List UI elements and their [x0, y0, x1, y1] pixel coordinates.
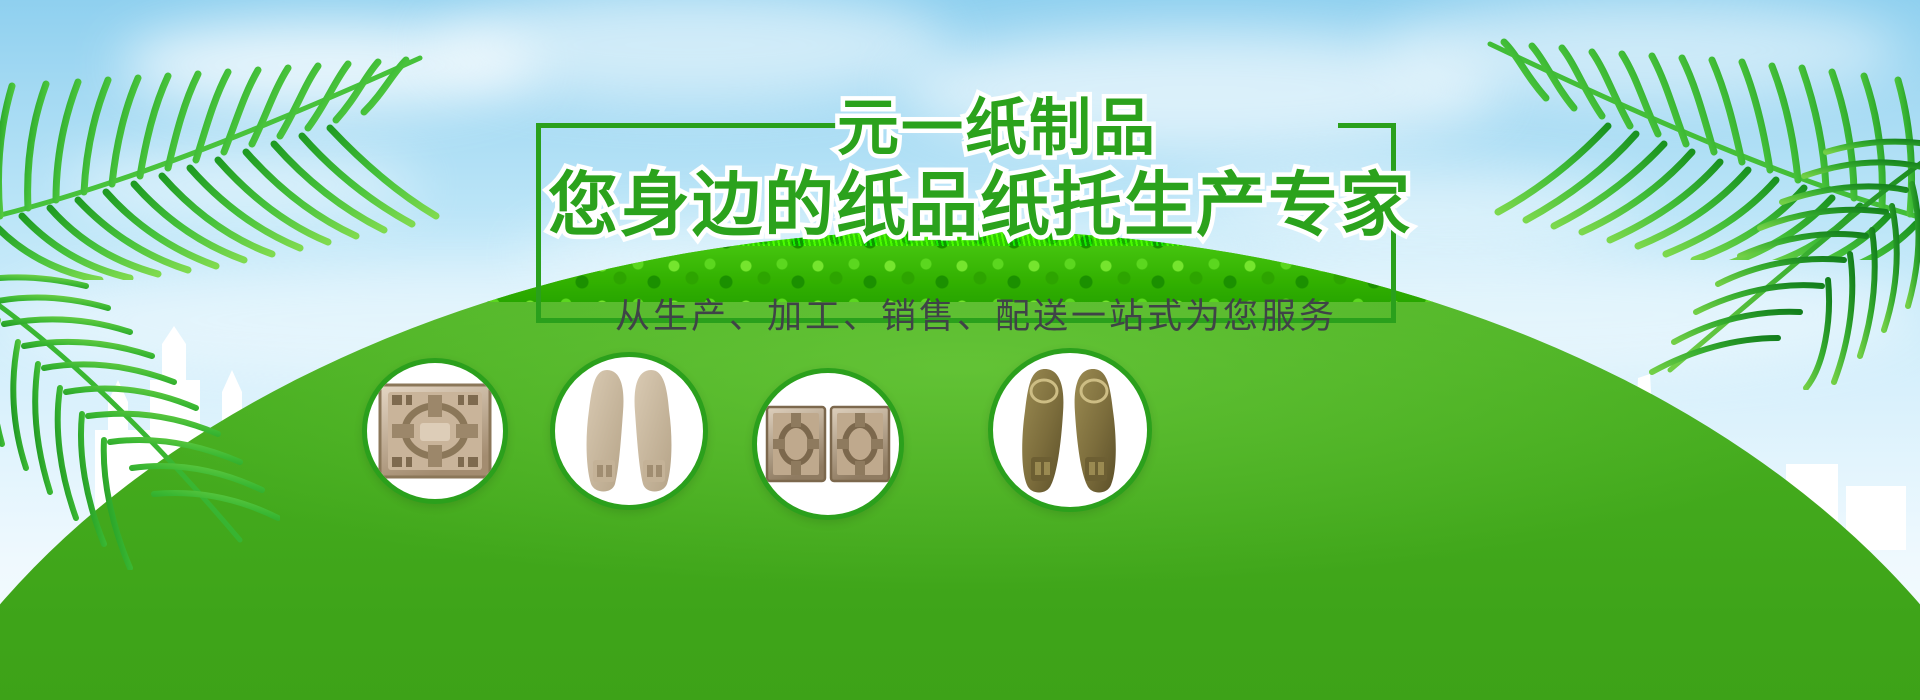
product-circle-paper-pulp-tray-square[interactable]: [362, 358, 508, 504]
product-showcase: [0, 0, 1920, 700]
product-circle-paper-pulp-shoe-tree-pair[interactable]: [988, 348, 1152, 512]
paper-pulp-shoe-tree-pair-icon: [1015, 361, 1125, 499]
product-circle-paper-pulp-shoe-insert-pair[interactable]: [550, 352, 708, 510]
paper-pulp-tray-square-icon: [376, 379, 494, 483]
paper-pulp-tray-double-icon: [765, 403, 891, 485]
promotional-banner: 元一纸制品 您身边的纸品纸托生产专家 从生产、加工、销售、配送一站式为您服务: [0, 0, 1920, 700]
product-circle-paper-pulp-tray-double[interactable]: [752, 368, 904, 520]
paper-pulp-shoe-insert-pair-icon: [577, 364, 681, 498]
